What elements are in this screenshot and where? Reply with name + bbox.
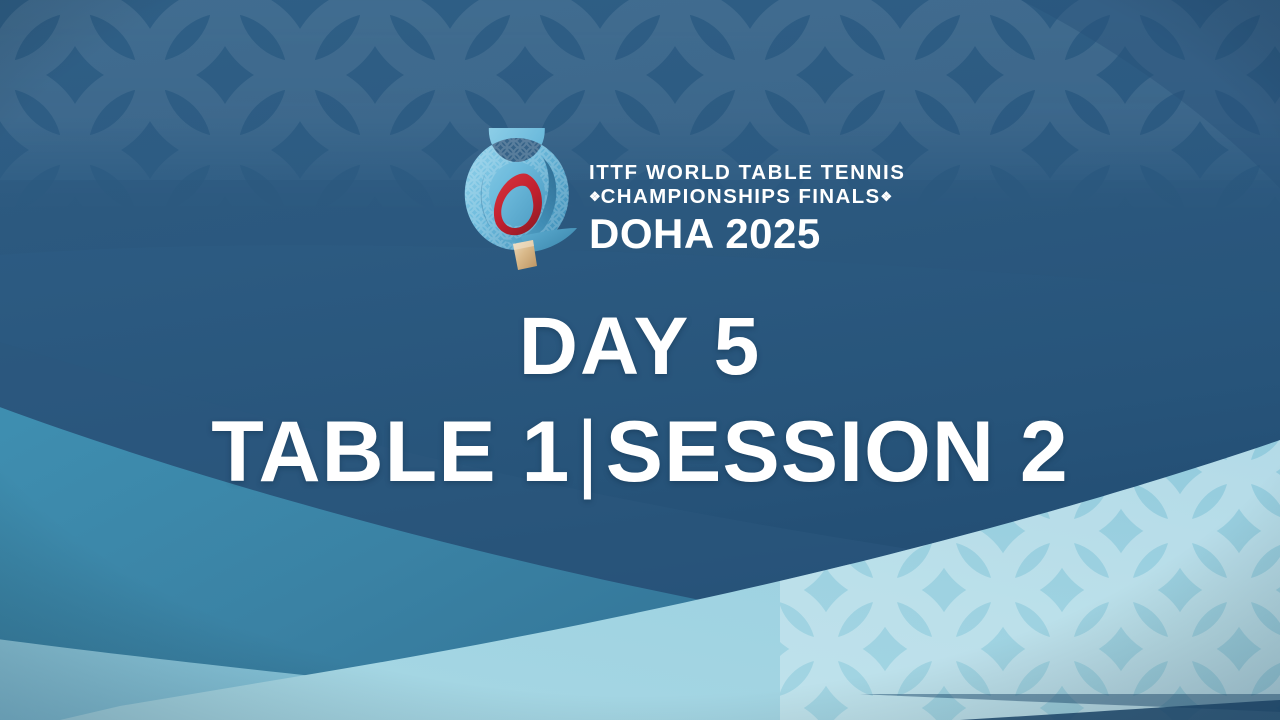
wordmark-line-doha-2025: DOHA 2025 xyxy=(589,212,906,256)
table-session-title: TABLE 1|SESSION 2 xyxy=(0,405,1280,500)
wordmark-line-ittf: ITTF WORLD TABLE TENNIS xyxy=(589,162,906,185)
event-logo-lockup: ITTF WORLD TABLE TENNIS ❖CHAMPIONSHIPS F… xyxy=(455,128,845,276)
doha-2025-q-logo-icon xyxy=(455,128,583,276)
title-separator: | xyxy=(570,404,605,500)
day-title: DAY 5 xyxy=(0,304,1280,391)
wordmark-championships-text: CHAMPIONSHIPS FINALS xyxy=(601,185,881,208)
session-label: SESSION 2 xyxy=(606,404,1069,500)
event-wordmark: ITTF WORLD TABLE TENNIS ❖CHAMPIONSHIPS F… xyxy=(589,148,906,255)
diamond-ornament-right: ❖ xyxy=(881,189,893,204)
diamond-ornament-left: ❖ xyxy=(589,189,601,204)
broadcast-title-card: ITTF WORLD TABLE TENNIS ❖CHAMPIONSHIPS F… xyxy=(0,0,1280,720)
table-label: TABLE 1 xyxy=(211,404,570,500)
session-title-block: DAY 5 TABLE 1|SESSION 2 xyxy=(0,304,1280,500)
wordmark-line-championships: ❖CHAMPIONSHIPS FINALS❖ xyxy=(589,185,906,209)
